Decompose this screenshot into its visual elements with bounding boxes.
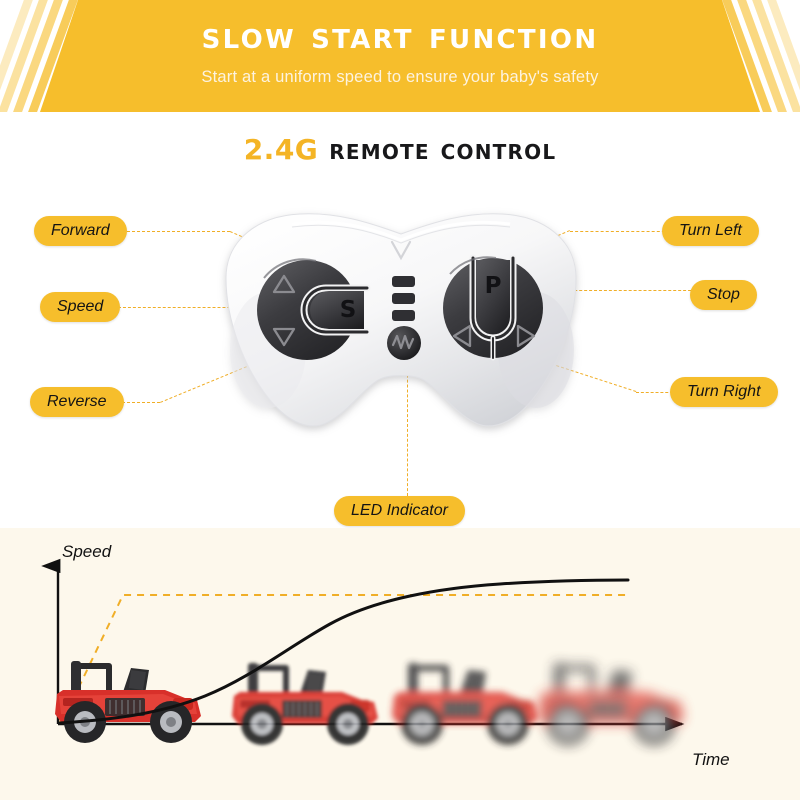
leader-reverse-h	[122, 402, 160, 403]
chart-xlabel: Time	[692, 750, 730, 770]
vent-slots-icon	[392, 276, 415, 321]
remote-controller: S P	[196, 200, 606, 450]
callout-reverse[interactable]: Reverse	[30, 387, 124, 417]
callout-forward[interactable]: Forward	[34, 216, 127, 246]
callout-turn-right[interactable]: Turn Right	[670, 377, 778, 407]
speed-button-label: S	[340, 297, 357, 323]
stop-button-label: P	[485, 273, 502, 299]
jeep-stage-4	[538, 663, 684, 745]
jeep-stage-1	[55, 661, 201, 743]
section-title: 2.4G Remote Control	[0, 136, 800, 164]
banner-subtitle: Start at a uniform speed to ensure your …	[0, 68, 800, 87]
infographic-page: Slow Start Function Start at a uniform s…	[0, 0, 800, 800]
jeep-stage-3	[392, 663, 538, 745]
callout-turn-right-label: Turn Right	[687, 383, 761, 401]
chart-ylabel: Speed	[62, 542, 111, 562]
callout-stop[interactable]: Stop	[690, 280, 757, 310]
callout-led-indicator-label: LED Indicator	[351, 502, 448, 520]
callout-forward-label: Forward	[51, 222, 110, 240]
callout-speed-label: Speed	[57, 298, 103, 316]
section-title-text: Remote Control	[329, 133, 556, 166]
jeep-stage-2	[232, 663, 378, 745]
section-title-highlight: 2.4G	[244, 133, 319, 166]
callout-stop-label: Stop	[707, 286, 740, 304]
right-button-cluster: P	[443, 257, 543, 358]
callout-led-indicator[interactable]: LED Indicator	[334, 496, 465, 526]
speed-time-chart: Speed Time	[0, 528, 800, 800]
led-indicator-icon	[387, 326, 421, 360]
callout-turn-left-label: Turn Left	[679, 222, 742, 240]
callout-reverse-label: Reverse	[47, 393, 107, 411]
callout-turn-left[interactable]: Turn Left	[662, 216, 759, 246]
header-banner: Slow Start Function Start at a uniform s…	[0, 0, 800, 112]
banner-title: Slow Start Function	[0, 17, 800, 54]
callout-speed[interactable]: Speed	[40, 292, 120, 322]
